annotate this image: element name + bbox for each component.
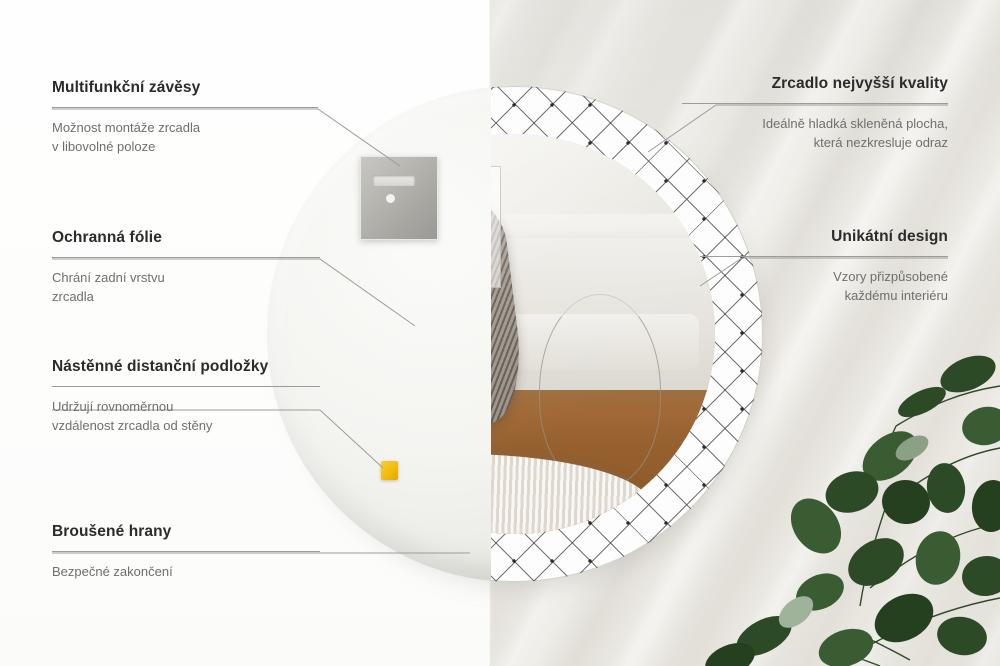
callout-body-line: Udržují rovnoměrnou	[52, 399, 173, 414]
callout-zrcadlo-nejvyssi-kvality: Zrcadlo nejvyšší kvality Ideálně hladká …	[682, 74, 948, 153]
mirror	[267, 86, 763, 582]
callout-body: Chrání zadní vrstvu zrcadla	[52, 269, 320, 307]
callout-title-text: Nástěnné distanční podložky	[52, 358, 268, 375]
callout-body-line: Vzory přizpůsobené	[833, 269, 948, 284]
callout-body-line: Možnost montáže zrcadla	[52, 120, 200, 135]
callout-nastenne-distancni-podlozky: Nástěnné distanční podložky Udržují rovn…	[52, 357, 320, 436]
plant-leaves	[700, 348, 1000, 666]
callout-body-line: Ideálně hladká skleněná plocha,	[762, 116, 948, 131]
callout-title: Nástěnné distanční podložky	[52, 357, 320, 377]
callout-rule	[682, 103, 948, 104]
callout-brousene-hrany: Broušené hrany Bezpečné zakončení	[52, 522, 320, 582]
callout-title: Multifunkční závěsy	[52, 78, 318, 98]
reflection-floor-lamp	[539, 294, 661, 488]
callout-rule	[52, 386, 320, 387]
callout-title: Zrcadlo nejvyšší kvality	[682, 74, 948, 94]
infographic-canvas: Multifunkční závěsy Možnost montáže zrca…	[0, 0, 1000, 666]
callout-title: Unikátní design	[700, 227, 948, 247]
callout-rule	[52, 551, 320, 552]
hanger-plate	[360, 156, 438, 240]
callout-body-line: vzdálenost zrcadla od stěny	[52, 418, 212, 433]
callout-multifunkcni-zavesy: Multifunkční závěsy Možnost montáže zrca…	[52, 78, 318, 157]
spacer-pad	[381, 461, 398, 480]
callout-body-line: každému interiéru	[845, 288, 948, 303]
hanger-screw-hole	[386, 194, 395, 203]
callout-rule	[52, 257, 320, 258]
callout-body-line: Chrání zadní vrstvu	[52, 270, 165, 285]
callout-body: Možnost montáže zrcadla v libovolné polo…	[52, 119, 318, 157]
hanger-keyhole-slot	[373, 175, 415, 186]
callout-unikatni-design: Unikátní design Vzory přizpůsobené každé…	[700, 227, 948, 306]
callout-rule	[700, 256, 948, 257]
callout-body: Udržují rovnoměrnou vzdálenost zrcadla o…	[52, 398, 320, 436]
plant-decoration	[700, 330, 1000, 666]
callout-title: Broušené hrany	[52, 522, 320, 542]
callout-title: Ochranná fólie	[52, 228, 320, 248]
callout-rule	[52, 107, 318, 108]
callout-body: Ideálně hladká skleněná plocha, která ne…	[682, 115, 948, 153]
callout-body-line: zrcadla	[52, 289, 94, 304]
callout-ochranna-folie: Ochranná fólie Chrání zadní vrstvu zrcad…	[52, 228, 320, 307]
callout-body: Bezpečné zakončení	[52, 563, 320, 582]
callout-body-line: Bezpečné zakončení	[52, 564, 173, 579]
callout-body-line: která nezkresluje odraz	[814, 135, 948, 150]
callout-body: Vzory přizpůsobené každému interiéru	[700, 268, 948, 306]
callout-body-line: v libovolné poloze	[52, 139, 155, 154]
